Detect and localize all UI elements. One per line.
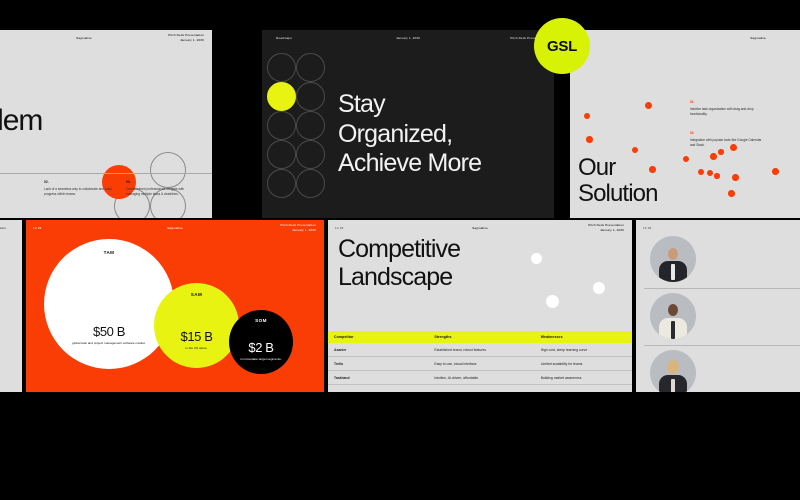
slide-header: Sagmaline Pitch Deck Presentation Januar… [26,220,324,236]
decorative-dot-white [546,295,559,308]
slide-header: Sagmaline Pitch Deck Presentation Januar… [328,220,632,236]
bubble-label: SOM [255,318,267,323]
point-number: 01. [690,100,764,104]
avatar-team-member-3 [650,350,696,392]
bubble-label: TAM [104,250,115,255]
bullet-text: are either too g complex. [0,187,34,192]
decorative-dot-white [593,282,605,294]
solution-point-2: 02. Integration with popular tools like … [690,131,764,148]
decorative-circle [296,140,325,169]
header-date: January 1, 2030 [396,36,420,41]
slide-our-solution[interactable]: Sagmaline 01. Intuitive task organizatio… [570,30,800,218]
headline-line2: Solution [578,181,658,206]
cell-weakness: Building market awareness [535,371,632,385]
scatter-dot [772,168,779,175]
cell-competitor: Asanier [328,343,428,357]
point-number: 02. [690,131,764,135]
cell-competitor: Taskhand [328,371,428,385]
bullet-text: Lack of a seamless way to collaborate an… [44,187,116,197]
decorative-circle [267,111,296,140]
cell-strength: Easy to use, visual interface [428,357,534,371]
point-text: Intuitive task organization with drag-an… [690,107,764,117]
avatar-shirt [671,321,675,339]
header-meta-line1: Pitch Deck Presentation [168,33,204,37]
header-meta-line1: Pitch Deck Presentation [280,223,316,227]
slide-title-line2: oblem [0,106,42,135]
bubble-value: $50 B [93,324,125,339]
solution-point-1: 01. Intuitive task organization with dra… [690,100,764,117]
header-meta-line2: January 1, 2030 [292,228,316,232]
decorative-dot-white [531,253,542,264]
avatar-head [668,248,678,260]
scatter-dot [707,170,713,176]
slide-header: Roadmaps January 1, 2030 Pitch Deck Pres… [262,30,554,46]
column-header-competitor: Competitor [328,331,428,343]
bubble-som: SOM $2 B in immediate target segments. [229,310,293,374]
scatter-dot [732,174,739,181]
cell-weakness: High cost, steep learning curve [535,343,632,357]
header-section: Roadmaps [276,36,292,41]
table-row: Asanier Established brand, robust featur… [328,343,632,357]
scatter-dot [645,102,652,109]
header-brand: Sagmaline [167,226,183,231]
partial-meta-line1: Pitch Deck Presentation [0,226,6,230]
slide-market-size[interactable]: 12 25 Sagmaline Pitch Deck Presentation … [26,220,324,392]
scatter-dot [586,136,593,143]
header-meta: Pitch Deck Presentation January 1, 2030 [588,223,624,232]
scatter-dot [683,156,689,162]
slide-header: Sagmaline [570,30,800,46]
cell-strength: Established brand, robust features [428,343,534,357]
avatar-head [667,360,679,374]
competitor-table: Competitor Strengths Weaknesses Asanier … [328,331,632,385]
avatar-shirt [671,264,675,280]
bubble-value: $2 B [248,340,273,355]
slide-headline: Stay Organized, Achieve More [338,90,481,179]
scatter-dot [710,153,717,160]
slide-team[interactable]: 16 25 [636,220,800,392]
slide-partial-left[interactable]: Pitch Deck Presentation January 1, 2030 … [0,220,22,392]
scatter-dot [632,147,638,153]
header-brand: Sagmaline [472,226,488,231]
brand-badge-gsl[interactable]: GSL [534,18,590,74]
bullet-text: Overwhelmed professionals struggle with … [126,187,198,197]
avatar-team-member-1 [650,236,696,282]
table-row: Trello Easy to use, visual interface Lim… [328,357,632,371]
headline-line3: Achieve More [338,149,481,179]
team-divider [644,345,800,346]
bubble-sam: SAM $15 B in the US alone. [154,283,239,368]
decorative-circle [296,53,325,82]
slide-headline: Our Solution [578,155,658,206]
bubble-label: SAM [191,292,202,297]
slide-stay-organized[interactable]: Roadmaps January 1, 2030 Pitch Deck Pres… [262,30,554,218]
decorative-circle [296,82,325,111]
decorative-circle [296,111,325,140]
header-meta-line2: January 1, 2030 [600,228,624,232]
cell-strength: Intuitive, AI-driven, affordable [428,371,534,385]
avatar-head [668,304,678,316]
avatar-team-member-2 [650,293,696,339]
header-brand: Sagmaline [76,36,92,41]
bubble-caption: global task and project management softw… [67,341,152,346]
scatter-dot [584,113,590,119]
decorative-circle [267,169,296,198]
partial-header-meta: Pitch Deck Presentation January 1, 2030 [0,226,6,236]
headline-line2: Organized, [338,120,481,150]
cell-weakness: Limited scalability for teams [535,357,632,371]
scatter-dot [718,149,724,155]
scatter-dot [698,169,704,175]
presentation-template-showcase: Sagmaline Pitch Deck Presentation Januar… [0,0,800,500]
bullet-number: 03. [126,180,198,184]
header-brand: Sagmaline [750,36,766,41]
decorative-circle [296,169,325,198]
page-number: 16 25 [643,226,652,230]
point-text: Integration with popular tools like Goog… [690,138,764,148]
decorative-circle [267,140,296,169]
problem-bullet-3: 03. Overwhelmed professionals struggle w… [126,180,208,197]
bubble-tam: TAM $50 B global task and project manage… [44,239,174,369]
column-header-weaknesses: Weaknesses [535,331,632,343]
header-meta-line1: Pitch Deck Presentation [588,223,624,227]
slide-competitive-landscape[interactable]: 12 25 Sagmaline Pitch Deck Presentation … [328,220,632,392]
cell-competitor: Trello [328,357,428,371]
bullet-number: 01. [0,180,34,184]
bullet-number: 02. [44,180,116,184]
headline-line1: Stay [338,90,481,120]
scatter-dot [714,173,720,179]
bubble-caption: in the US alone. [166,346,228,351]
table-row: Taskhand Intuitive, AI-driven, affordabl… [328,371,632,385]
scatter-dot [728,190,735,197]
slide-divider [0,173,212,174]
column-header-strengths: Strengths [428,331,534,343]
problem-bullet-1: 01. are either too g complex. [0,180,44,197]
headline-line1: Our [578,155,658,180]
header-meta: Pitch Deck Presentation January 1, 2030 [280,223,316,232]
bottom-feature-bar: Presentation Template 25 Unique Slides D… [0,392,800,500]
team-divider [644,288,800,289]
slide-headline: Competitive Landscape [338,236,460,291]
headline-line1: Competitive [338,236,460,264]
header-meta-line2: January 1, 2030 [180,38,204,42]
problem-bullet-2: 02. Lack of a seamless way to collaborat… [44,180,126,197]
slide-header: Sagmaline Pitch Deck Presentation Januar… [0,30,212,46]
decorative-circle-highlight [267,82,296,111]
avatar-shirt [671,379,675,392]
decorative-circle [267,53,296,82]
bubble-value: $15 B [181,329,213,344]
header-meta: Pitch Deck Presentation January 1, 2030 [168,33,204,42]
bubble-caption: in immediate target segments. [237,357,285,362]
problem-bullet-list: 01. are either too g complex. 02. Lack o… [0,180,212,197]
slide-the-problem[interactable]: Sagmaline Pitch Deck Presentation Januar… [0,30,212,218]
headline-line2: Landscape [338,264,460,292]
table-header-row: Competitor Strengths Weaknesses [328,331,632,343]
